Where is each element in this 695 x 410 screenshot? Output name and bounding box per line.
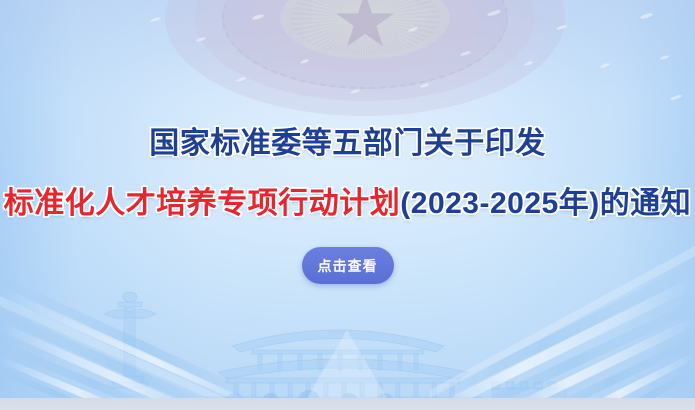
banner-title-suffix: (2023-2025年)的通知 <box>400 187 691 220</box>
banner-content: 国家标准委等五部门关于印发 标准化人才培养专项行动计划(2023-2025年)的… <box>0 0 695 410</box>
banner-title-highlight: 标准化人才培养专项行动计划 <box>4 187 401 220</box>
banner-title-line-2: 标准化人才培养专项行动计划(2023-2025年)的通知 <box>4 178 691 222</box>
view-detail-button[interactable]: 点击查看 <box>302 247 394 284</box>
banner-title-line-1: 国家标准委等五部门关于印发 <box>149 118 546 162</box>
promo-banner: 国家标准委等五部门关于印发 标准化人才培养专项行动计划(2023-2025年)的… <box>0 0 695 410</box>
